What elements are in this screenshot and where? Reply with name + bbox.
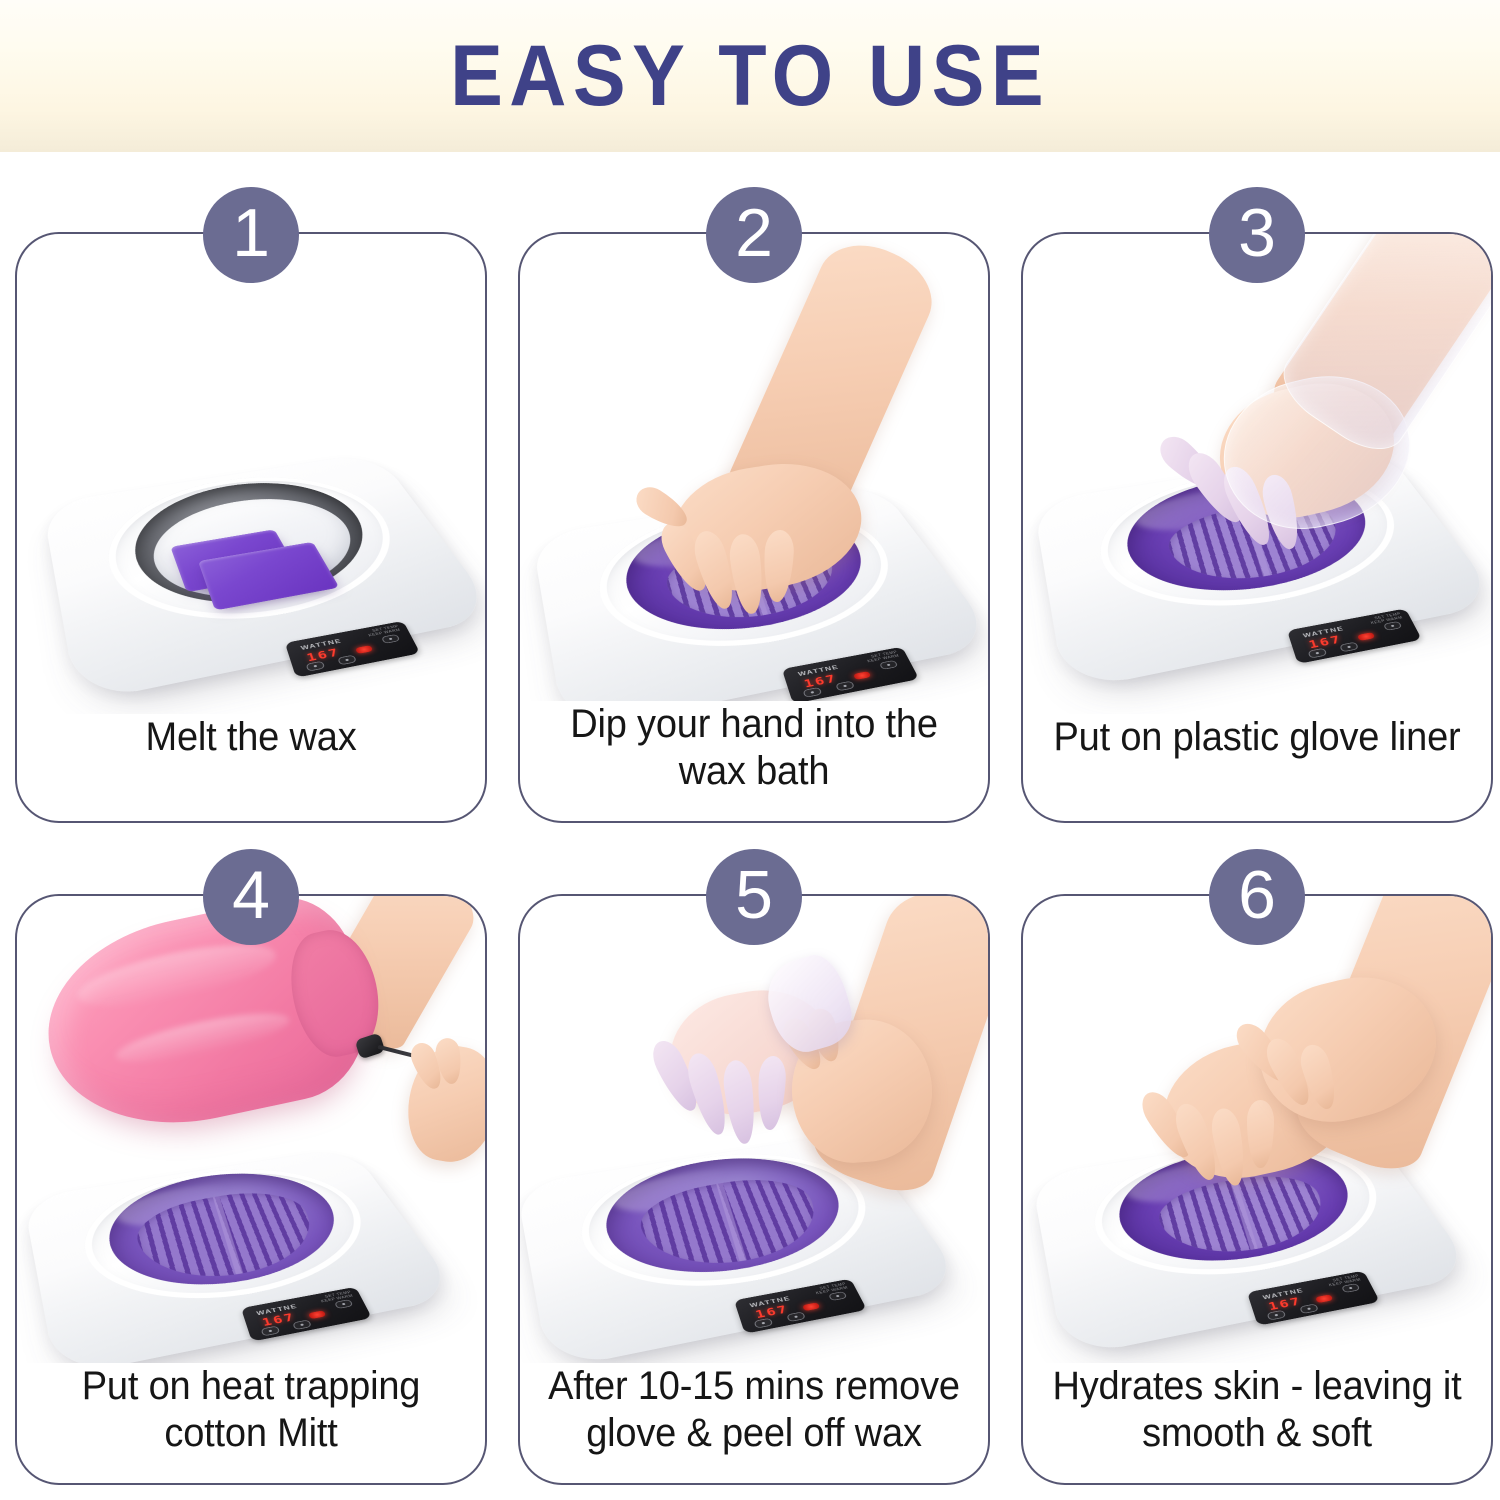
step-caption-4: Put on heat trapping cotton Mitt — [29, 1363, 474, 1483]
step-caption-2: Dip your hand into the wax bath — [532, 701, 977, 821]
step-number-badge-2: 2 — [706, 187, 802, 283]
mode-button[interactable] — [786, 1312, 806, 1323]
step-card-6: 6 — [1021, 894, 1493, 1485]
minus-button[interactable] — [261, 1326, 281, 1337]
plus-button[interactable] — [828, 1291, 847, 1301]
step-number-badge-1: 1 — [203, 187, 299, 283]
minus-button[interactable] — [305, 661, 325, 672]
step-illustration-4: WATTNE SET TEMP KEEP WARM 167 — [17, 896, 485, 1363]
power-indicator-led — [1316, 1294, 1334, 1303]
page-title: EASY TO USE — [450, 33, 1050, 119]
step-card-3: 3 — [1021, 232, 1493, 823]
step-card-5: 5 — [518, 894, 990, 1485]
power-indicator-led — [309, 1310, 327, 1319]
step-number-badge-4: 4 — [203, 849, 299, 945]
step-illustration-3: WATTNE SET TEMP KEEP WARM 167 — [1023, 234, 1491, 714]
step-card-1: 1 WATTNE — [15, 232, 487, 823]
step-number-badge-6: 6 — [1209, 849, 1305, 945]
infographic-page: EASY TO USE 1 — [0, 0, 1500, 1500]
minus-button[interactable] — [802, 687, 822, 698]
step-illustration-6: WATTNE SET TEMP KEEP WARM 167 — [1023, 896, 1491, 1363]
mode-button[interactable] — [292, 1320, 312, 1331]
step-caption-5: After 10-15 mins remove glove & peel off… — [532, 1363, 977, 1483]
step-illustration-5: WATTNE SET TEMP KEEP WARM 167 — [520, 896, 988, 1363]
minus-button[interactable] — [754, 1318, 774, 1329]
power-indicator-led — [853, 671, 871, 680]
step-number-badge-5: 5 — [706, 849, 802, 945]
mode-button[interactable] — [1299, 1304, 1319, 1315]
step-caption-6: Hydrates skin - leaving it smooth & soft — [1035, 1363, 1480, 1483]
step-card-4: 4 — [15, 894, 487, 1485]
step-card-2: 2 — [518, 232, 990, 823]
step-illustration-1: WATTNE SET TEMP KEEP WARM 167 — [17, 234, 485, 714]
step-illustration-2: WATTNE SET TEMP KEEP WARM 167 — [520, 234, 988, 701]
power-indicator-led — [803, 1302, 821, 1311]
minus-button[interactable] — [1307, 648, 1327, 659]
minus-button[interactable] — [1267, 1310, 1287, 1321]
plus-button[interactable] — [1383, 621, 1402, 631]
power-indicator-led — [355, 645, 373, 654]
step-caption-1: Melt the wax — [29, 714, 474, 821]
power-indicator-led — [1357, 632, 1375, 641]
plus-button[interactable] — [1341, 1283, 1360, 1293]
header-banner: EASY TO USE — [0, 0, 1500, 152]
mode-button[interactable] — [835, 681, 855, 692]
step-caption-3: Put on plastic glove liner — [1035, 714, 1480, 821]
plus-button[interactable] — [334, 1299, 353, 1309]
steps-grid: 1 WATTNE — [15, 232, 1485, 1485]
mode-button[interactable] — [1340, 642, 1360, 653]
mode-button[interactable] — [338, 655, 358, 666]
step-number-badge-3: 3 — [1209, 187, 1305, 283]
